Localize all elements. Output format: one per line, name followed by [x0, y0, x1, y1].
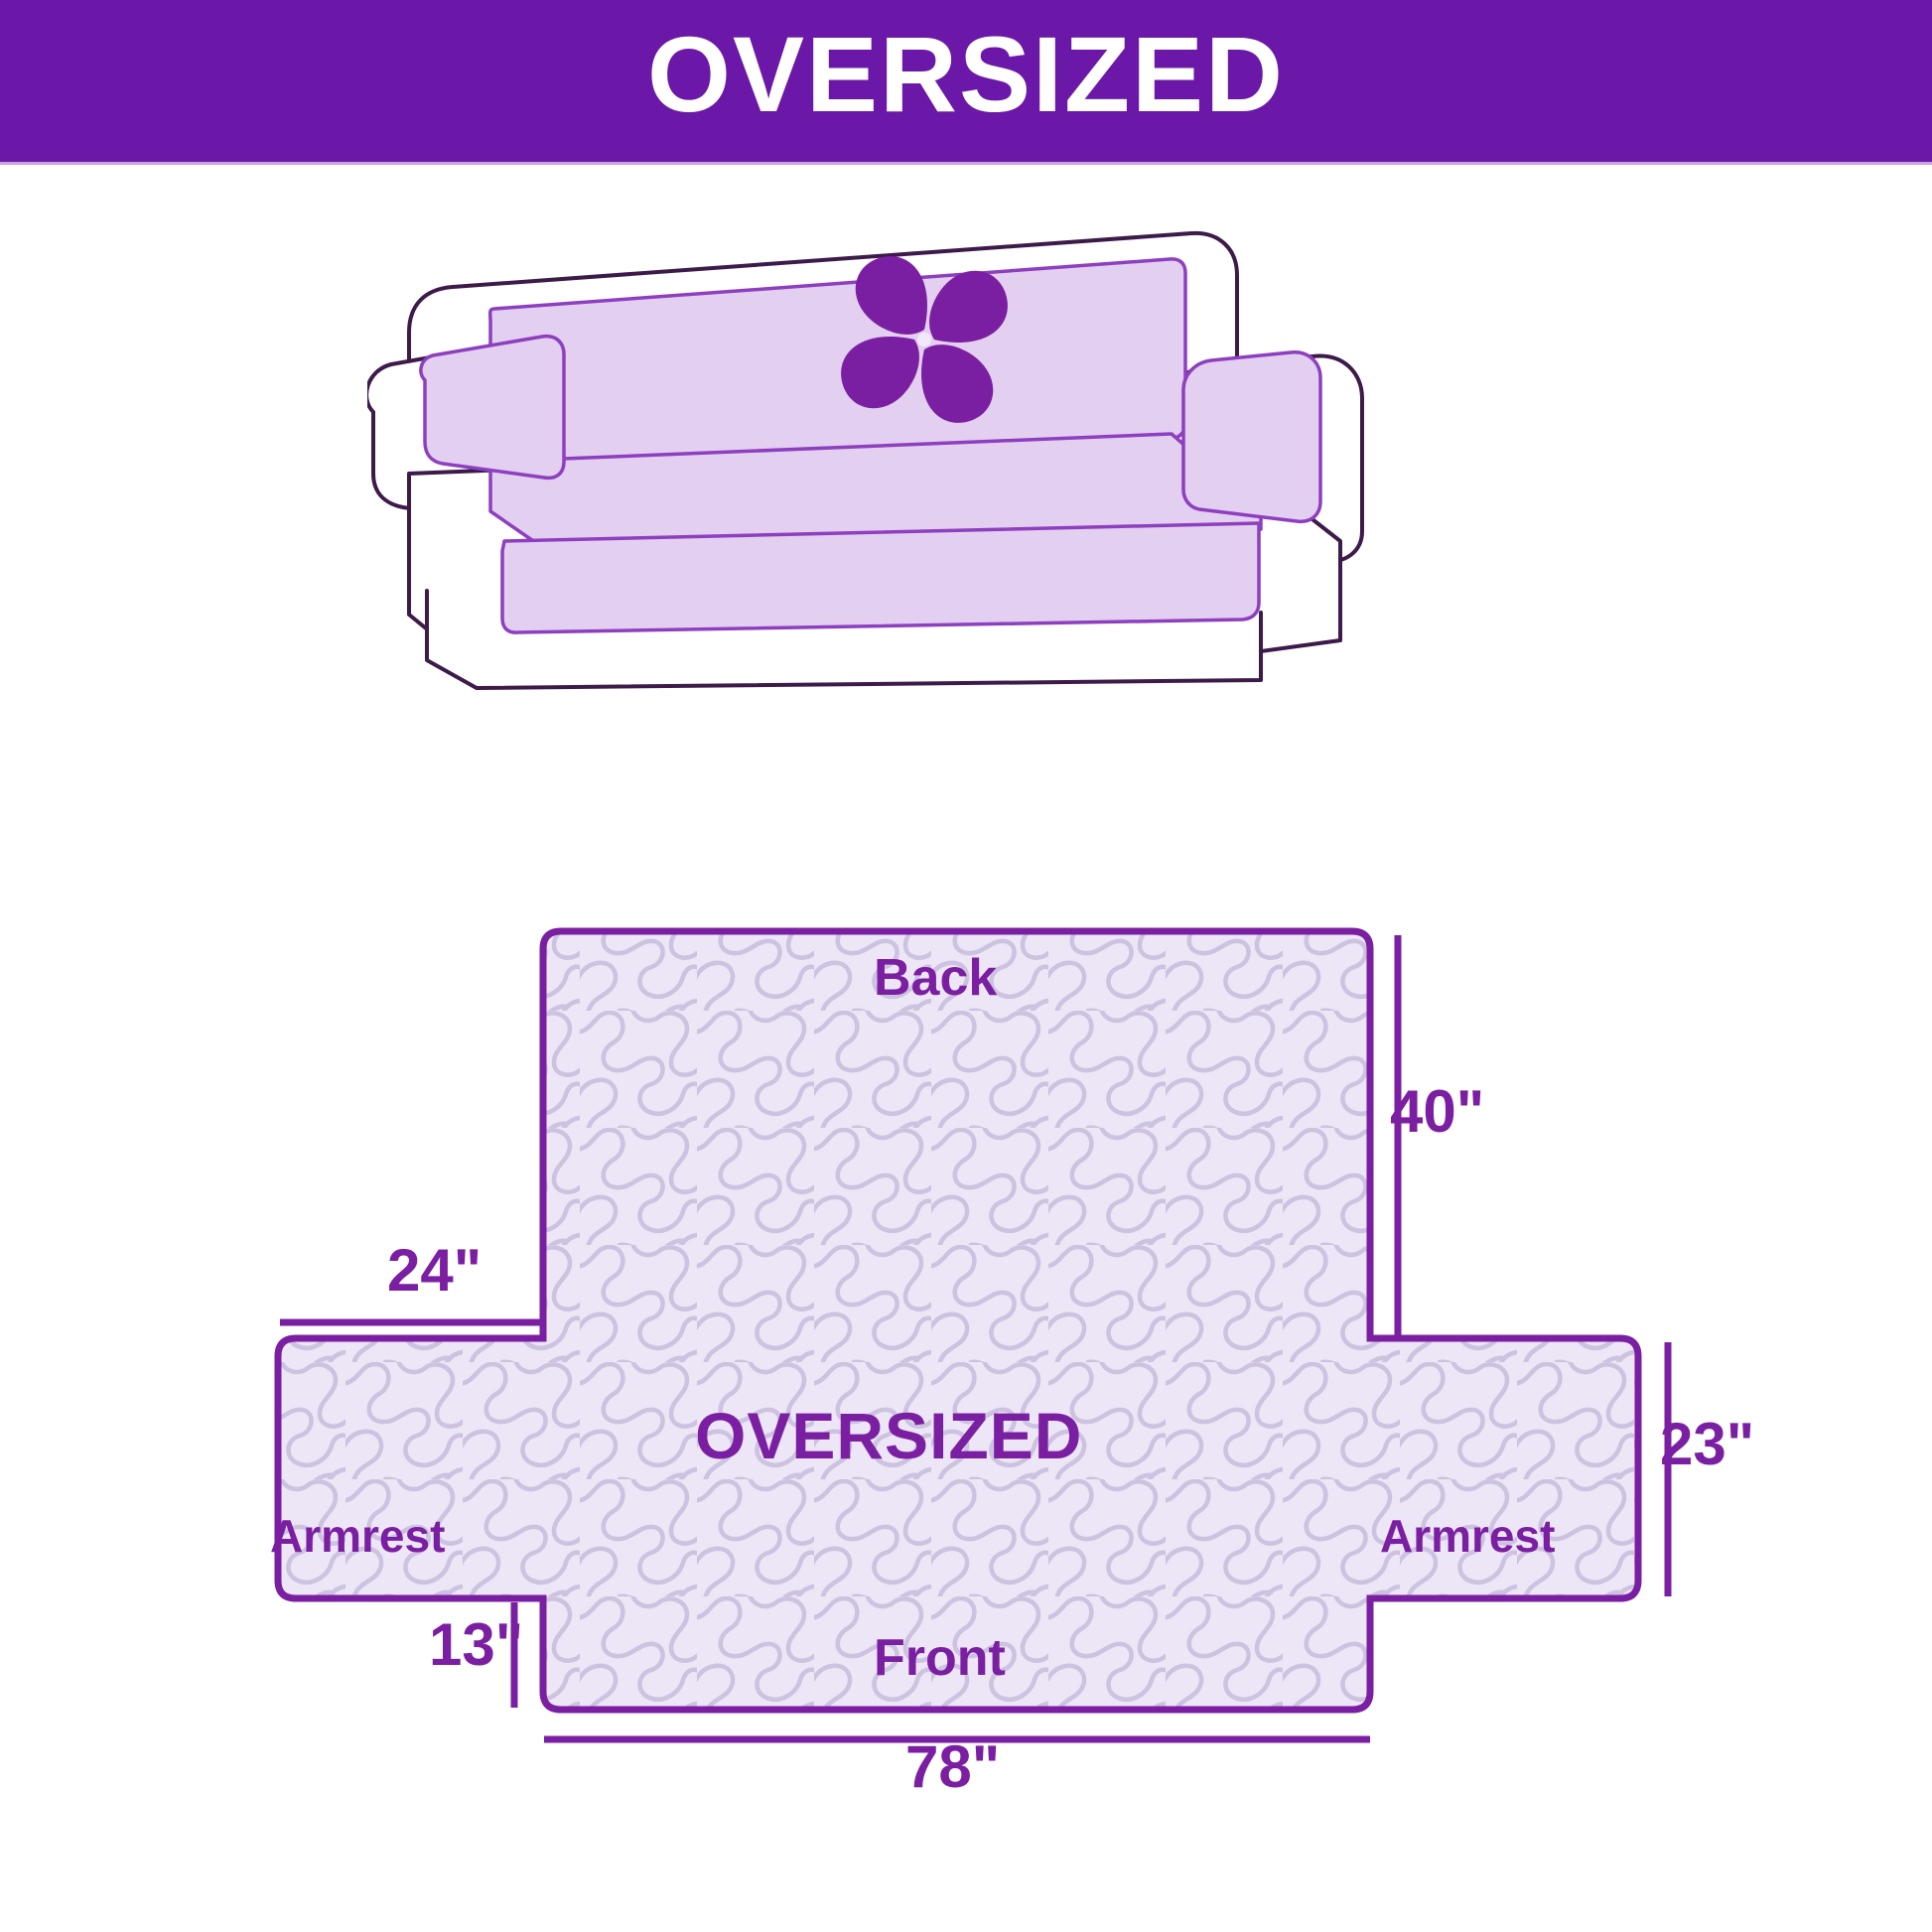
label-back: Back [874, 948, 997, 1008]
dimension-armrest-height: 23" [1660, 1410, 1754, 1478]
header-banner: OVERSIZED [0, 0, 1932, 162]
dimension-armrest-width: 24" [387, 1236, 482, 1305]
sofa-illustration [367, 213, 1588, 710]
dimension-total-width: 78" [905, 1732, 1000, 1801]
page-title: OVERSIZED [0, 0, 1932, 162]
label-armrest-right: Armrest [1380, 1509, 1555, 1563]
label-armrest-left: Armrest [270, 1509, 445, 1563]
dimension-back-height: 40" [1390, 1077, 1484, 1146]
label-oversized-center: OVERSIZED [695, 1398, 1082, 1473]
label-front: Front [874, 1628, 1006, 1688]
dimension-front-flap: 13" [429, 1610, 523, 1679]
